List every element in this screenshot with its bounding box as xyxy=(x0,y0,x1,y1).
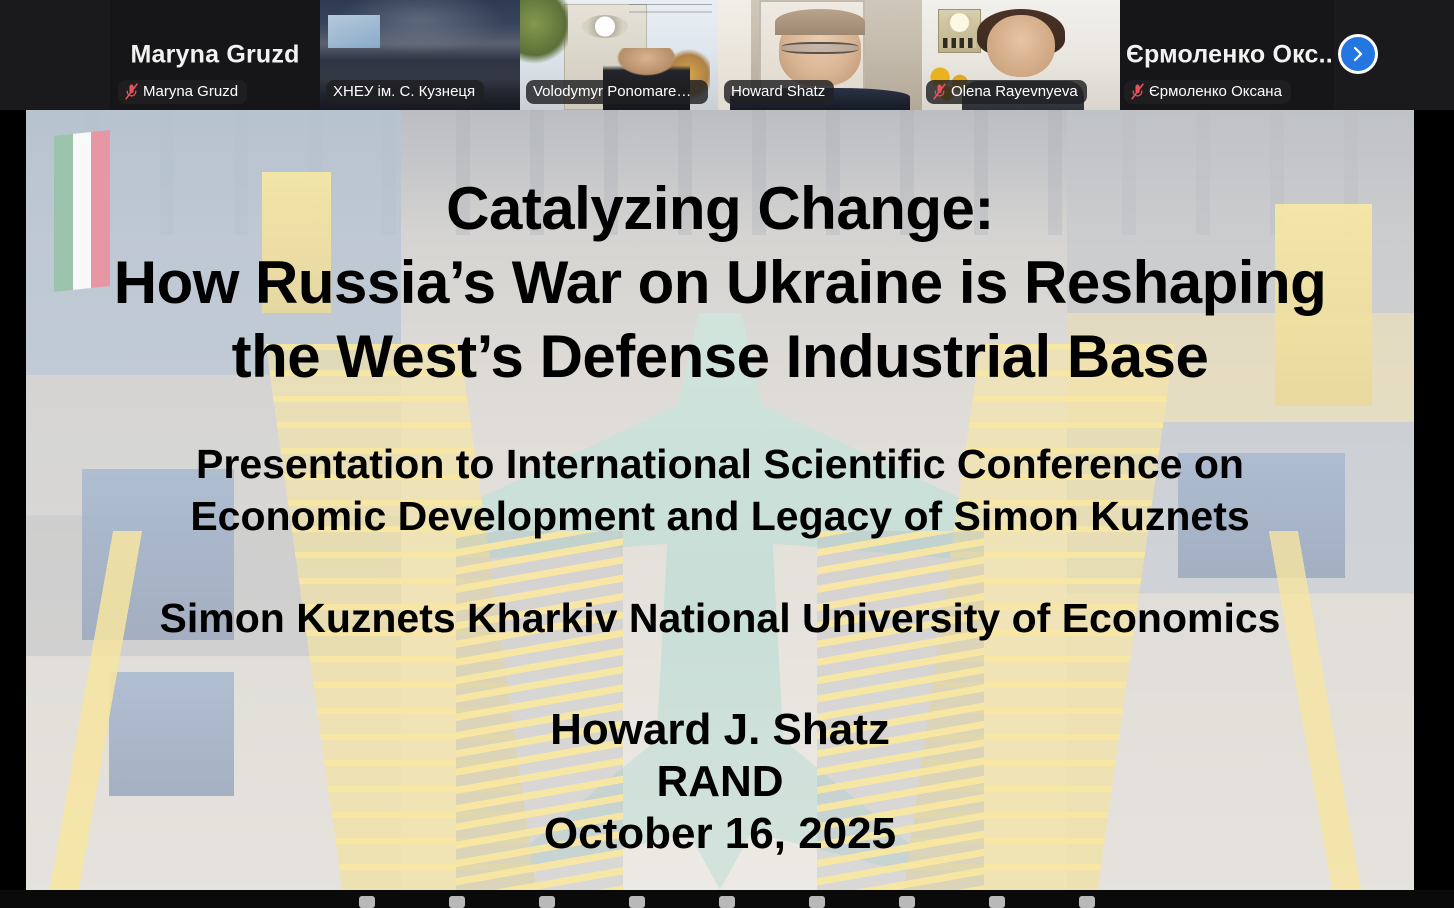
chat-icon xyxy=(629,896,645,908)
participants-icon xyxy=(539,896,555,908)
participant-name-badge-2: ХНЕУ ім. С. Кузнеця xyxy=(326,80,484,104)
slide-title-line-2: How Russia’s War on Ukraine is Reshaping xyxy=(70,246,1370,320)
microphone-muted-icon xyxy=(125,83,138,100)
leave-icon xyxy=(1079,896,1095,908)
slide-subtitle-line-1: Presentation to International Scientific… xyxy=(90,438,1350,490)
toolbar-video-button[interactable] xyxy=(440,890,474,908)
participant-tile-3[interactable]: Volodymyr Ponomarenko xyxy=(520,0,718,110)
meeting-toolbar[interactable] xyxy=(0,890,1454,908)
participant-face-5 xyxy=(987,15,1054,77)
glasses-shape xyxy=(781,42,859,54)
slide-title: Catalyzing Change: How Russia’s War on U… xyxy=(70,172,1370,394)
slide-title-line-1: Catalyzing Change: xyxy=(70,172,1370,246)
slide-author-name: Howard J. Shatz xyxy=(544,704,896,756)
filmstrip-next-page-button[interactable] xyxy=(1338,34,1378,74)
participant-name-badge-4: Howard Shatz xyxy=(724,80,834,104)
toolbar-participants-button[interactable] xyxy=(530,890,564,908)
foliage-left xyxy=(520,0,568,70)
slide-affiliation: RAND xyxy=(544,756,896,808)
filmstrip-left-spacer xyxy=(0,0,110,110)
participant-name-badge-6: Єрмоленко Оксана xyxy=(1124,80,1291,104)
toolbar-audio-button[interactable] xyxy=(350,890,384,908)
toolbar-leave-button[interactable] xyxy=(1070,890,1104,908)
participant-name-2: ХНЕУ ім. С. Кузнеця xyxy=(333,83,475,100)
participant-filmstrip: Maryna Gruzd Maryna Gruzd ХНЕУ ім. С. Ку… xyxy=(0,0,1454,110)
toolbar-share-screen-button[interactable] xyxy=(710,890,744,908)
slide-title-line-3: the West’s Defense Industrial Base xyxy=(70,320,1370,394)
record-icon xyxy=(809,896,825,908)
audio-icon xyxy=(359,896,375,908)
wall-clock-shape xyxy=(938,9,982,53)
share-screen-icon xyxy=(719,896,735,908)
chevron-right-icon xyxy=(1349,45,1367,63)
toolbar-more-button[interactable] xyxy=(980,890,1014,908)
more-icon xyxy=(989,896,1005,908)
participant-name-1: Maryna Gruzd xyxy=(143,83,238,100)
participant-name-badge-1: Maryna Gruzd xyxy=(118,80,247,104)
shared-screen-stage: Catalyzing Change: How Russia’s War on U… xyxy=(0,110,1454,890)
toolbar-chat-button[interactable] xyxy=(620,890,654,908)
participant-tile-4-active-speaker[interactable]: Howard Shatz xyxy=(718,0,922,110)
video-icon xyxy=(449,896,465,908)
slide-organization: Simon Kuznets Kharkiv National Universit… xyxy=(70,594,1370,642)
participant-hair-4 xyxy=(775,9,865,35)
slide-text-block: Catalyzing Change: How Russia’s War on U… xyxy=(26,110,1414,890)
participant-name-badge-3: Volodymyr Ponomarenko xyxy=(526,80,708,104)
microphone-muted-icon xyxy=(1131,83,1144,100)
screen: Maryna Gruzd Maryna Gruzd ХНЕУ ім. С. Ку… xyxy=(0,0,1454,908)
slide-author-block: Howard J. Shatz RAND October 16, 2025 xyxy=(544,704,896,860)
participant-placeholder-name-6: Єрмоленко Окс... xyxy=(1120,41,1334,70)
reactions-icon xyxy=(899,896,915,908)
slide-date: October 16, 2025 xyxy=(544,808,896,860)
participant-name-6: Єрмоленко Оксана xyxy=(1149,83,1282,100)
participant-tile-2[interactable]: ХНЕУ ім. С. Кузнеця xyxy=(320,0,520,110)
slide-subtitle: Presentation to International Scientific… xyxy=(90,438,1350,542)
toolbar-reactions-button[interactable] xyxy=(890,890,924,908)
participant-tile-6[interactable]: Єрмоленко Окс... Єрмоленко Оксана xyxy=(1120,0,1334,110)
participant-name-badge-5: Olena Rayevnyeva xyxy=(926,80,1087,104)
university-logo-watermark xyxy=(629,4,712,19)
participant-name-4: Howard Shatz xyxy=(731,83,825,100)
participant-name-3: Volodymyr Ponomarenko xyxy=(533,83,699,100)
participant-placeholder-name-1: Maryna Gruzd xyxy=(110,41,320,70)
participant-tile-1[interactable]: Maryna Gruzd Maryna Gruzd xyxy=(110,0,320,110)
presentation-slide[interactable]: Catalyzing Change: How Russia’s War on U… xyxy=(26,110,1414,890)
slide-subtitle-line-2: Economic Development and Legacy of Simon… xyxy=(90,490,1350,542)
microphone-muted-icon xyxy=(933,83,946,100)
participant-name-5: Olena Rayevnyeva xyxy=(951,83,1078,100)
toolbar-record-button[interactable] xyxy=(800,890,834,908)
participant-tile-5[interactable]: Olena Rayevnyeva xyxy=(922,0,1120,110)
